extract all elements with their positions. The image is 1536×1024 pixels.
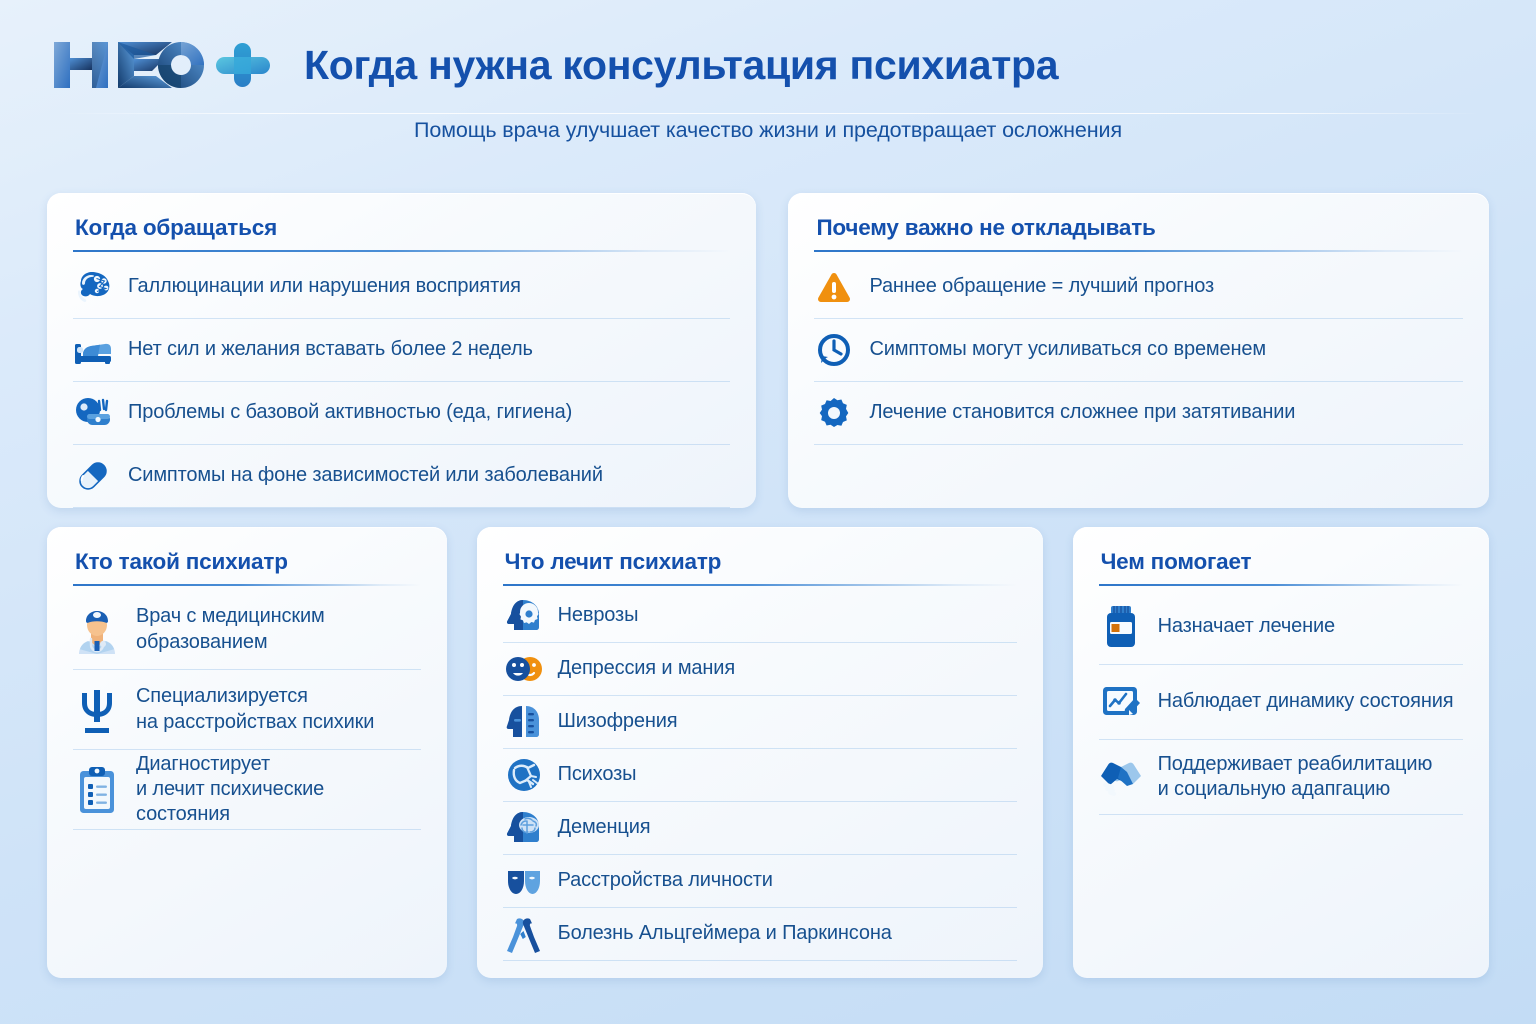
page-subtitle: Помощь врача улучшает качество жизни и п… <box>0 118 1536 143</box>
list-item-label: Диагностирует и лечит психические состоя… <box>136 752 421 828</box>
list-item[interactable]: Поддерживает реабилитацию и социальную а… <box>1099 740 1463 815</box>
title-underline <box>503 584 1017 586</box>
list-item-label: Поддерживает реабилитацию и социальную а… <box>1158 752 1433 802</box>
list-item-label: Проблемы с базовой активностью (еда, гиг… <box>128 400 572 425</box>
list-item-label: Врач с медицинским образованием <box>136 604 325 654</box>
title-underline <box>814 250 1463 252</box>
card-when-to-seek-help: Когда обращаться Галлюцинации или наруше… <box>47 193 756 508</box>
list-item-label: Специализируется на расстройствах психик… <box>136 684 374 734</box>
list-item[interactable]: Диагностирует и лечит психические состоя… <box>73 750 421 830</box>
head-gear-icon <box>503 595 545 637</box>
title-underline <box>1099 584 1463 586</box>
psychosis-head-icon <box>503 754 545 796</box>
list-item-label: Симптомы на фоне зависимостей или заболе… <box>128 463 603 488</box>
header-divider <box>56 113 1480 114</box>
title-underline <box>73 250 730 252</box>
title-underline <box>73 584 421 586</box>
medicine-bottle-icon <box>1099 603 1143 651</box>
list-item[interactable]: Галлюцинации или нарушения восприятия <box>73 256 730 319</box>
list-item-label: Галлюцинации или нарушения восприятия <box>128 274 521 299</box>
list-item[interactable]: Врач с медицинским образованием <box>73 590 421 670</box>
card-who-is-psychiatrist: Кто такой психиатр Врач с медицинским <box>47 527 447 978</box>
list-item[interactable]: Симптомы могут усиливаться со временем <box>814 319 1463 382</box>
list-item[interactable]: Лечение становится сложнее при затятиван… <box>814 382 1463 445</box>
list-item-label: Деменция <box>558 815 651 840</box>
list-item[interactable]: Проблемы с базовой активностью (еда, гиг… <box>73 382 730 445</box>
list-item[interactable]: Депрессия и мания <box>503 643 1017 696</box>
split-head-icon <box>503 701 545 743</box>
two-faces-icon <box>503 648 545 690</box>
list-item[interactable]: Психозы <box>503 749 1017 802</box>
card-title: Что лечит психиатр <box>503 549 1017 575</box>
card-why-not-delay: Почему важно не откладывать Раннее обращ… <box>788 193 1489 508</box>
page-header: Когда нужна консультация психиатра <box>0 0 1536 104</box>
list-item-label: Болезнь Альцгеймера и Паркинсона <box>558 921 892 946</box>
pill-icon <box>73 458 113 494</box>
list-item-label: Раннее обращение = лучший прогноз <box>869 274 1214 299</box>
list-item-label: Наблюдает динамику состояния <box>1158 689 1454 714</box>
list-item-label: Лечение становится сложнее при затятиван… <box>869 400 1295 425</box>
list-item[interactable]: Раннее обращение = лучший прогноз <box>814 256 1463 319</box>
card-title: Чем помогает <box>1099 549 1463 575</box>
list-item[interactable]: Неврозы <box>503 590 1017 643</box>
card-title: Почему важно не откладывать <box>814 215 1463 241</box>
list-item-label: Шизофрения <box>558 709 678 734</box>
list-item-label: Депрессия и мания <box>558 656 735 681</box>
list-item-label: Неврозы <box>558 603 639 628</box>
list-item[interactable]: Болезнь Альцгеймера и Паркинсона <box>503 908 1017 961</box>
masks-icon <box>503 860 545 902</box>
list-item-label: Расстройства личности <box>558 868 773 893</box>
list-item[interactable]: Назначает лечение <box>1099 590 1463 665</box>
list-item-label: Симптомы могут усиливаться со временем <box>869 337 1266 362</box>
list-item[interactable]: Наблюдает динамику состояния <box>1099 665 1463 740</box>
hygiene-icon <box>73 395 113 431</box>
list-item[interactable]: Расстройства личности <box>503 855 1017 908</box>
cards-row-top: Когда обращаться Галлюцинации или наруше… <box>47 193 1489 508</box>
bed-icon <box>73 332 113 368</box>
warning-triangle-icon <box>814 269 854 305</box>
card-title: Кто такой психиатр <box>73 549 421 575</box>
list-item[interactable]: Симптомы на фоне зависимостей или заболе… <box>73 445 730 508</box>
brain-icon <box>73 269 113 305</box>
card-how-it-helps: Чем помогает Назначает лечение <box>1073 527 1489 978</box>
list-item[interactable]: Деменция <box>503 802 1017 855</box>
handshake-icon <box>1099 753 1143 801</box>
dementia-brain-icon <box>503 807 545 849</box>
card-what-psychiatrist-treats: Что лечит психиатр Неврозы <box>477 527 1043 978</box>
ribbon-icon <box>503 913 545 955</box>
clipboard-icon <box>73 764 121 816</box>
doctor-icon <box>73 604 121 656</box>
chart-monitor-icon <box>1099 678 1143 726</box>
list-item-label: Назначает лечение <box>1158 614 1335 639</box>
psi-icon <box>73 684 121 736</box>
card-title: Когда обращаться <box>73 215 730 241</box>
list-item-label: Психозы <box>558 762 637 787</box>
list-item-label: Нет сил и желания вставать более 2 недел… <box>128 337 533 362</box>
clock-icon <box>814 332 854 368</box>
cards-row-bottom: Кто такой психиатр Врач с медицинским <box>47 527 1489 978</box>
list-item[interactable]: Специализируется на расстройствах психик… <box>73 670 421 750</box>
page-title: Когда нужна консультация психиатра <box>304 42 1058 89</box>
list-item[interactable]: Нет сил и желания вставать более 2 недел… <box>73 319 730 382</box>
gear-icon <box>814 395 854 431</box>
brand-logo-neo-plus <box>48 32 280 98</box>
list-item[interactable]: Шизофрения <box>503 696 1017 749</box>
